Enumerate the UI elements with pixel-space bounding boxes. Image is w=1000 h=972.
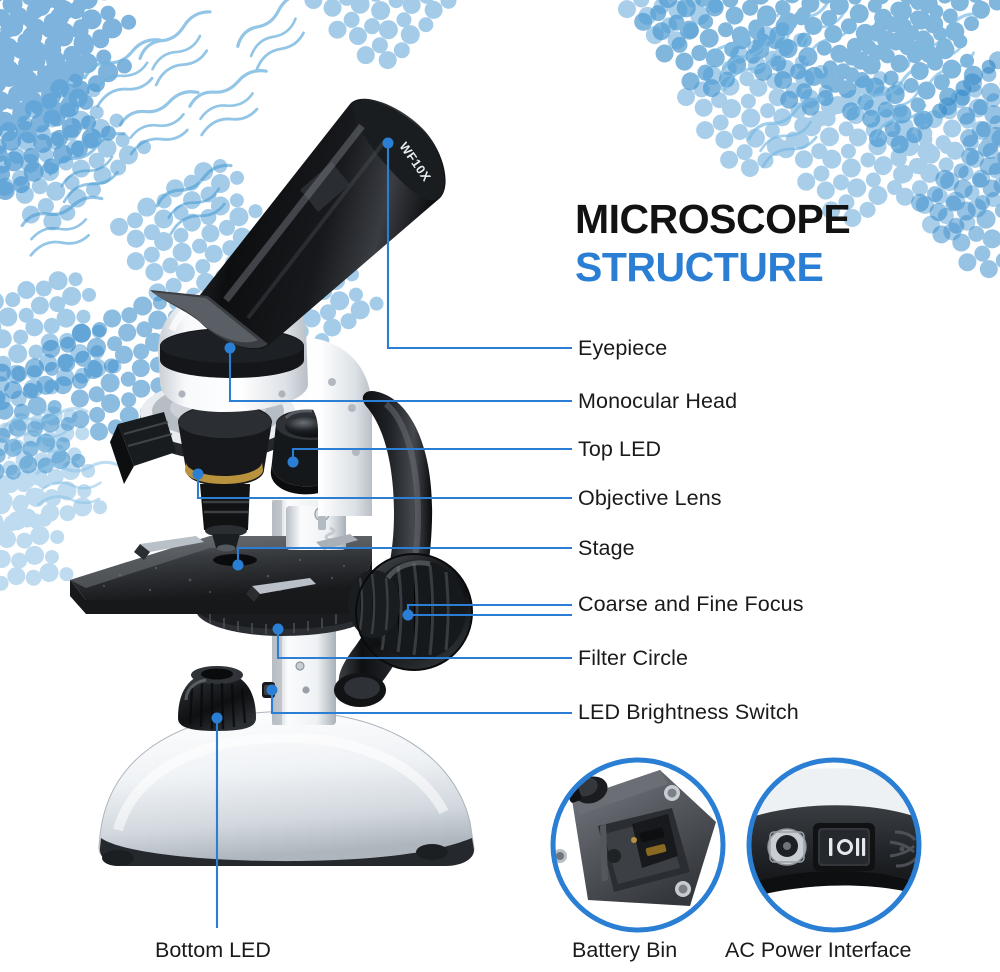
callout-label-top-led: Top LED bbox=[578, 437, 661, 462]
callout-label-coarse-and-fine-focus: Coarse and Fine Focus bbox=[578, 592, 804, 617]
power-rocker-switch bbox=[813, 823, 875, 871]
callout-label-bottom-led: Bottom LED bbox=[155, 938, 271, 963]
callout-label-monocular-head: Monocular Head bbox=[578, 389, 737, 414]
title-line-1: MICROSCOPE bbox=[575, 199, 850, 240]
bottom-led-knob bbox=[178, 666, 256, 731]
objective-lens-secondary bbox=[110, 412, 176, 484]
callout-label-eyepiece: Eyepiece bbox=[578, 336, 667, 361]
title-line-2: STRUCTURE bbox=[575, 247, 850, 288]
inset-battery-bin-photo bbox=[553, 760, 723, 930]
objective-lens-main bbox=[178, 396, 272, 552]
page-title: MICROSCOPE STRUCTURE bbox=[575, 199, 850, 288]
callout-label-stage: Stage bbox=[578, 536, 635, 561]
callout-label-led-brightness-switch: LED Brightness Switch bbox=[578, 700, 799, 725]
eyepiece-part: WF10X bbox=[150, 99, 446, 349]
callout-label-objective-lens: Objective Lens bbox=[578, 486, 722, 511]
callout-label-filter-circle: Filter Circle bbox=[578, 646, 688, 671]
microscope-illustration: WF10X bbox=[0, 0, 1000, 972]
inset-ac-power-photo bbox=[742, 754, 930, 930]
led-brightness-switch-part bbox=[262, 682, 275, 698]
microscope-structure-infographic: WF10X bbox=[0, 0, 1000, 972]
